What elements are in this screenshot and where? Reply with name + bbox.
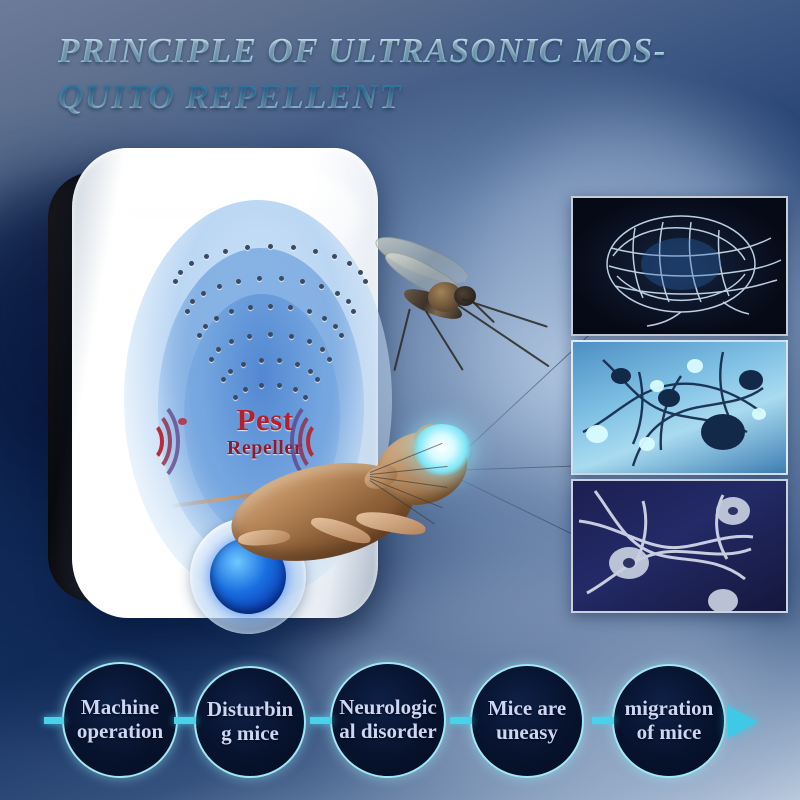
speaker-dot: [279, 276, 284, 281]
speaker-dot: [241, 362, 246, 367]
flow-step-label: Disturbing mice: [196, 698, 304, 745]
speaker-dot: [313, 249, 318, 254]
speaker-dot: [303, 395, 308, 400]
speaker-dot: [332, 254, 337, 259]
flow-connector-3: [310, 717, 332, 724]
speaker-dot: [217, 284, 222, 289]
flow-step-2[interactable]: Disturbing mice: [194, 666, 306, 778]
panel-neurons-blue: [571, 340, 788, 475]
speaker-dot: [209, 357, 214, 362]
speaker-dot: [300, 279, 305, 284]
speaker-dot: [257, 276, 262, 281]
flow-step-label: Mice are uneasy: [472, 697, 582, 744]
speaker-dot: [327, 357, 332, 362]
speaker-dot: [197, 333, 202, 338]
speaker-dot: [268, 304, 273, 309]
synapse-icon: [573, 481, 786, 611]
speaker-dot: [351, 309, 356, 314]
speaker-dot: [223, 249, 228, 254]
speaker-dot: [268, 244, 273, 249]
speaker-dot: [307, 339, 312, 344]
speaker-dot: [320, 347, 325, 352]
speaker-dot: [216, 347, 221, 352]
speaker-dot: [339, 333, 344, 338]
speaker-dot: [293, 387, 298, 392]
panel-neurons-dark: [571, 479, 788, 613]
speaker-dot: [247, 334, 252, 339]
ultrasonic-wave-left: [124, 406, 184, 468]
speaker-dot: [228, 369, 233, 374]
speaker-dot: [308, 369, 313, 374]
mouse-illustration: [178, 418, 478, 588]
speaker-dot: [248, 305, 253, 310]
speaker-dot: [185, 309, 190, 314]
speaker-dot: [245, 245, 250, 250]
flow-arrow-right-icon: [728, 706, 758, 738]
flow-step-4[interactable]: Mice are uneasy: [470, 664, 584, 778]
speaker-dot: [335, 291, 340, 296]
speaker-dot: [259, 358, 264, 363]
speaker-dot: [221, 377, 226, 382]
speaker-dot: [347, 261, 352, 266]
flow-step-label: migration of mice: [614, 697, 724, 744]
speaker-dot: [203, 324, 208, 329]
speaker-dot: [289, 334, 294, 339]
infographic-canvas: PRINCIPLE OF ULTRASONIC MOS- QUITO REPEL…: [0, 0, 800, 800]
speaker-dot: [259, 383, 264, 388]
flow-step-label: Neurological disorder: [332, 696, 444, 743]
speaker-dot: [346, 299, 351, 304]
speaker-dot: [233, 395, 238, 400]
mosquito-leg-3: [425, 310, 463, 370]
sound-wave-arc: [118, 397, 180, 486]
speaker-dot: [295, 362, 300, 367]
neuron-network-icon: [573, 342, 786, 473]
speaker-dot: [204, 254, 209, 259]
speaker-dot: [173, 279, 178, 284]
speaker-dot: [322, 316, 327, 321]
flow-connector-5: [592, 717, 614, 724]
mosquito-leg-4: [394, 309, 411, 371]
flow-connector-2: [174, 717, 196, 724]
flow-step-5[interactable]: migration of mice: [612, 664, 726, 778]
speaker-dot: [277, 358, 282, 363]
speaker-dot: [243, 387, 248, 392]
speaker-dot: [190, 299, 195, 304]
speaker-dot: [358, 270, 363, 275]
flow-step-3[interactable]: Neurological disorder: [330, 662, 446, 778]
mouse-nose: [178, 418, 187, 425]
speaker-dot: [307, 309, 312, 314]
mosquito-illustration: [366, 242, 556, 372]
panel-brain-wireframe: [571, 196, 788, 336]
speaker-dot: [288, 305, 293, 310]
brain-icon: [573, 198, 786, 334]
page-title: PRINCIPLE OF ULTRASONIC MOS- QUITO REPEL…: [58, 28, 758, 120]
speaker-dot: [201, 291, 206, 296]
speaker-dot: [178, 270, 183, 275]
speaker-dot: [315, 377, 320, 382]
flow-connector-4: [450, 717, 472, 724]
speaker-dot: [319, 284, 324, 289]
speaker-dot: [229, 309, 234, 314]
speaker-dot: [189, 261, 194, 266]
speaker-dot: [333, 324, 338, 329]
speaker-dot: [277, 383, 282, 388]
speaker-dot: [214, 316, 219, 321]
flow-connector-1: [44, 717, 64, 724]
speaker-dot: [229, 339, 234, 344]
process-flow: Machine operationDisturbing miceNeurolog…: [0, 646, 800, 800]
flow-step-1[interactable]: Machine operation: [62, 662, 178, 778]
speaker-dot: [291, 245, 296, 250]
mosquito-leg-2: [458, 304, 550, 367]
speaker-dot: [236, 279, 241, 284]
flow-step-label: Machine operation: [64, 696, 176, 743]
speaker-dot: [268, 332, 273, 337]
device-speaker-grille: [168, 234, 368, 424]
